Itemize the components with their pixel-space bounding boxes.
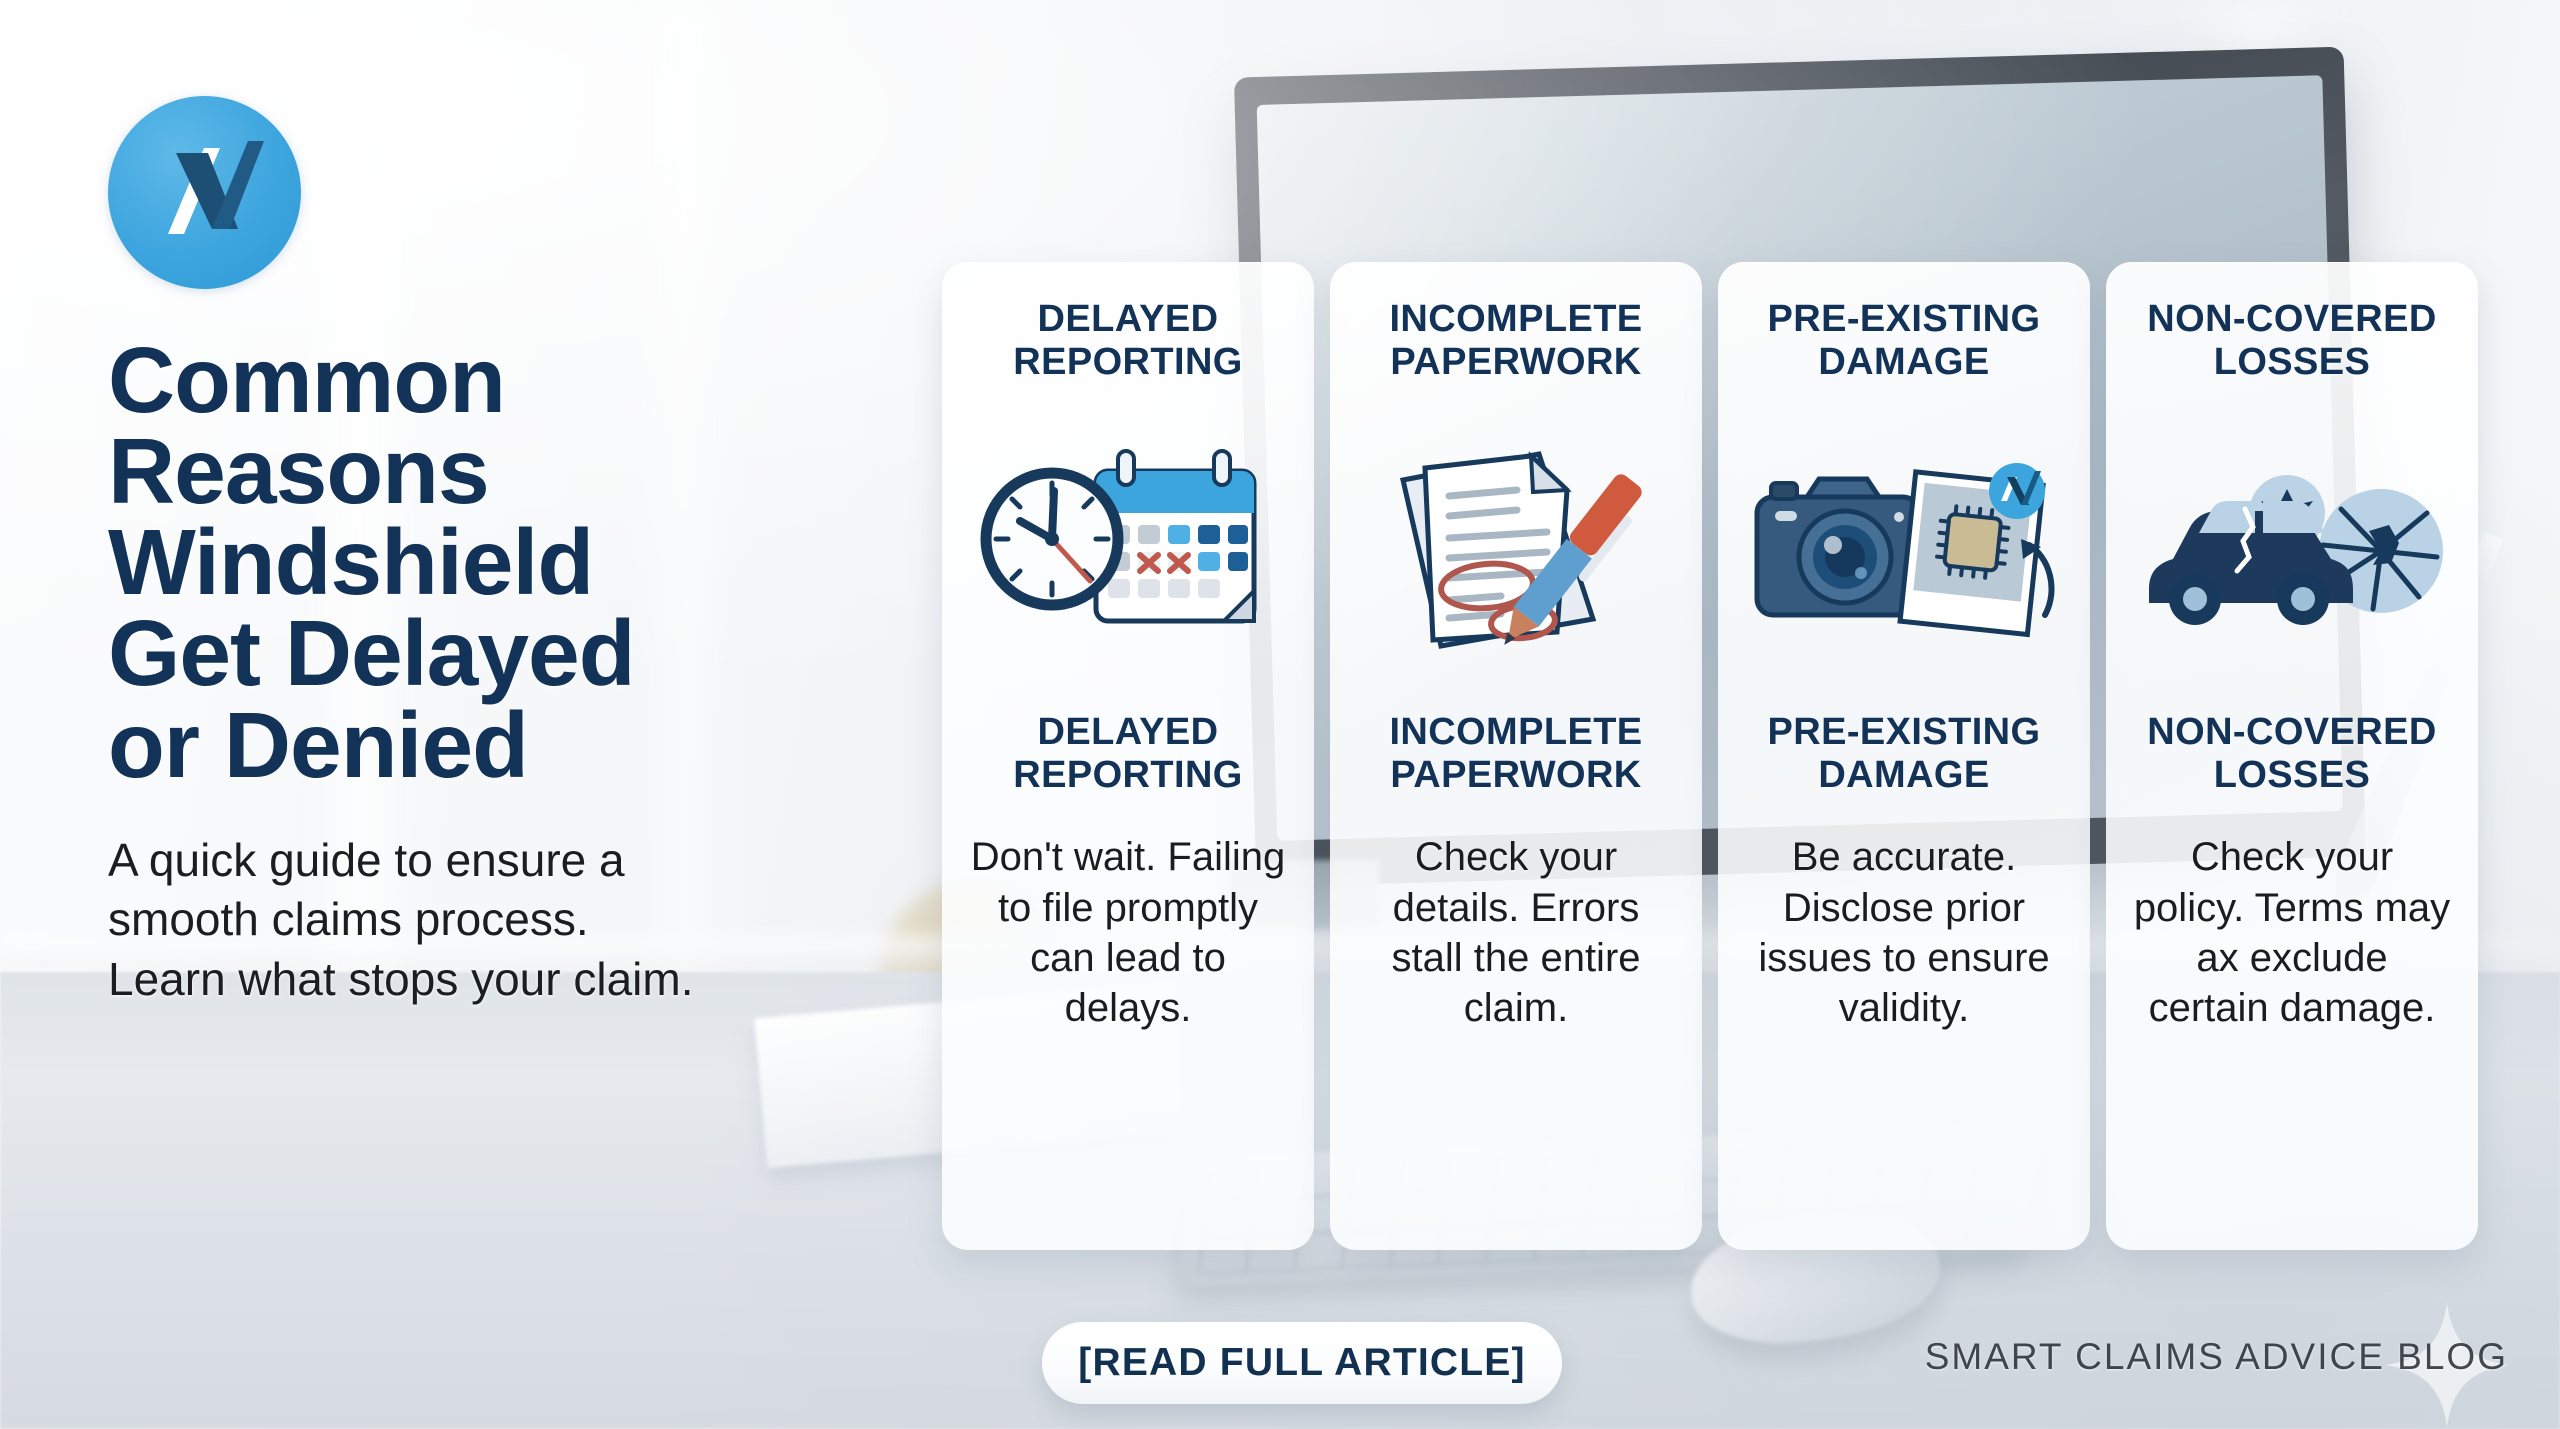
av-monogram-logo-icon [108,96,301,289]
card-body-text: Check your details. Errors stall the ent… [1350,832,1682,1034]
card-body-text: Check your policy. Terms may ax exclude … [2126,832,2458,1034]
card-title-bottom: INCOMPLETE PAPERWORK [1389,711,1642,796]
hero-panel: Common Reasons Windshield Get Delayed or… [108,96,908,1010]
read-full-article-button[interactable]: [READ FULL ARTICLE] [1042,1322,1562,1404]
reason-card-incomplete-paperwork[interactable]: INCOMPLETE PAPERWORK [1330,262,1702,1250]
card-title-bottom: DELAYED REPORTING [1013,711,1243,796]
reason-card-non-covered-losses[interactable]: NON-COVERED LOSSES [2106,262,2478,1250]
card-title-top: DELAYED REPORTING [1013,298,1243,383]
reasons-card-list: DELAYED REPORTING [942,262,2478,1250]
card-title-top: PRE-EXISTING DAMAGE [1768,298,2041,383]
card-title-top: NON-COVERED LOSSES [2147,298,2436,383]
page-subtitle: A quick guide to ensure a smooth claims … [108,831,888,1010]
read-full-article-label: [READ FULL ARTICLE] [1078,1341,1525,1385]
camera-photo-chip-icon [1738,421,2070,671]
card-body-text: Be accurate. Disclose prior issues to en… [1738,832,2070,1034]
clock-calendar-icon [962,421,1294,671]
card-title-bottom: PRE-EXISTING DAMAGE [1768,711,2041,796]
card-title-bottom: NON-COVERED LOSSES [2147,711,2436,796]
blog-name: SMART CLAIMS ADVICE BLOG [1925,1336,2508,1378]
reason-card-pre-existing-damage[interactable]: PRE-EXISTING DAMAGE [1718,262,2090,1250]
card-body-text: Don't wait. Failing to file promptly can… [962,832,1294,1034]
card-title-top: INCOMPLETE PAPERWORK [1389,298,1642,383]
documents-pen-icon [1350,421,1682,671]
cracked-windshield-car-icon [2126,421,2458,671]
reason-card-delayed-reporting[interactable]: DELAYED REPORTING [942,262,1314,1250]
page-title: Common Reasons Windshield Get Delayed or… [108,335,908,791]
